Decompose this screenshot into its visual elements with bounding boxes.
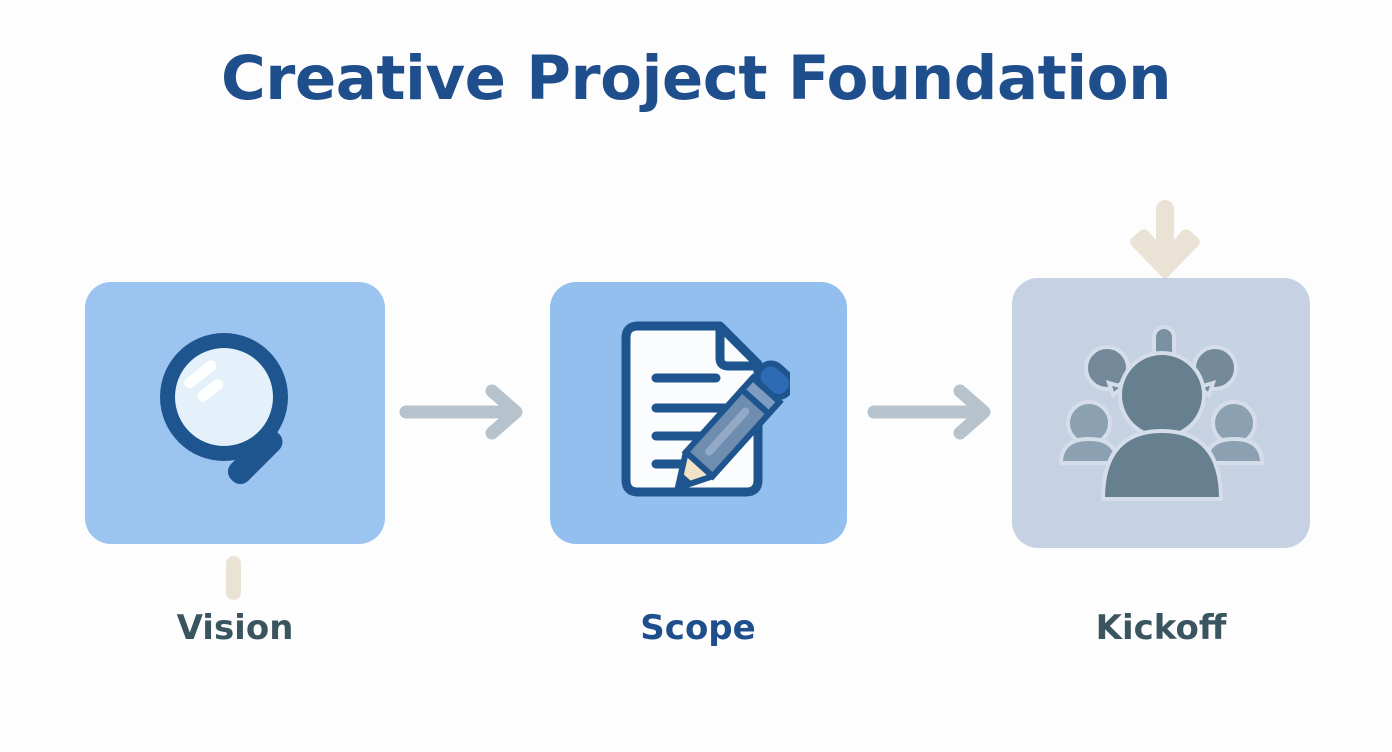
step-label-scope: Scope [533, 608, 863, 649]
step-card-scope[interactable] [550, 282, 847, 544]
step-card-vision[interactable] [85, 282, 385, 544]
step-label-kickoff: Kickoff [996, 608, 1326, 649]
step-card-kickoff[interactable] [1012, 278, 1310, 548]
stem-marker [226, 556, 241, 600]
infographic-canvas: Creative Project Foundation [0, 0, 1392, 752]
page-title: Creative Project Foundation [0, 44, 1392, 114]
magnifying-glass-icon [145, 323, 325, 503]
arrow-step1-to-step2-icon [398, 382, 533, 446]
down-arrow-icon [1128, 200, 1202, 286]
team-people-icon [1059, 323, 1264, 503]
document-pencil-icon [608, 318, 790, 508]
arrow-step2-to-step3-icon [866, 382, 1001, 446]
step-label-vision: Vision [70, 608, 400, 649]
